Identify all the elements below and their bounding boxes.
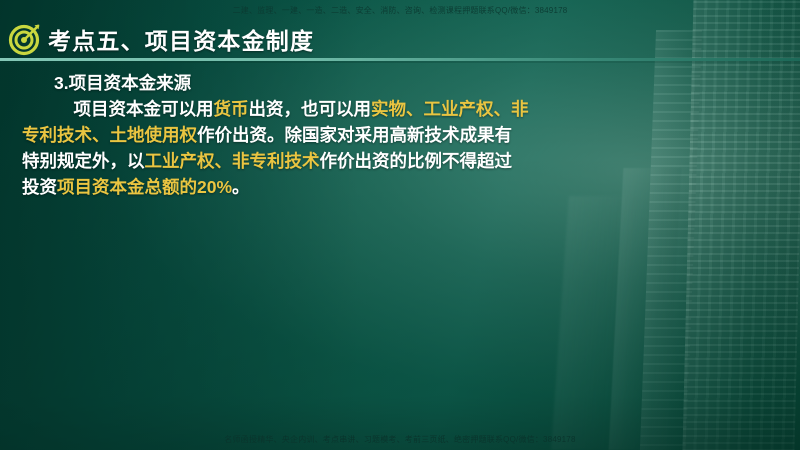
background-haze-left (0, 0, 360, 450)
watermark-top: 二建、监理、一建、一造、二造、安全、消防、咨询、检测课程押题联系QQ/微信：38… (0, 5, 800, 16)
page-title: 考点五、项目资本金制度 (48, 22, 314, 56)
highlighted-text: 货币 (214, 99, 249, 119)
content-line: 专利技术、土地使用权作价出资。除国家对采用高新技术成果有 (22, 122, 642, 148)
body-text: 作价出资的比例不得超过 (320, 151, 513, 171)
watermark-bottom: 名师函授精华、央企内训、考点串讲、习题模考、考前三页纸、绝密押题联系QQ/微信：… (0, 434, 800, 445)
body-text: 作价出资。除国家对采用高新技术成果有 (197, 125, 512, 145)
header-divider-shadow (0, 61, 800, 63)
content-heading: 3.项目资本金来源 (22, 70, 642, 96)
highlighted-text: 项目资本金总额的20% (57, 177, 232, 197)
content-line: 投资项目资本金总额的20%。 (22, 174, 642, 200)
body-text: 投资 (22, 177, 57, 197)
content-paragraph: 项目资本金可以用货币出资，也可以用实物、工业产权、非专利技术、土地使用权作价出资… (22, 96, 642, 200)
slide-canvas: 二建、监理、一建、一造、二造、安全、消防、咨询、检测课程押题联系QQ/微信：38… (0, 0, 800, 450)
body-text: 出资，也可以用 (249, 99, 372, 119)
highlighted-text: 工业产权、非专利技术 (145, 151, 320, 171)
target-dart-icon (8, 22, 42, 56)
content-line: 项目资本金可以用货币出资，也可以用实物、工业产权、非 (22, 96, 642, 122)
slide-body: 3.项目资本金来源 项目资本金可以用货币出资，也可以用实物、工业产权、非专利技术… (22, 70, 642, 200)
body-text: 特别规定外，以 (22, 151, 145, 171)
highlighted-text: 专利技术、土地使用权 (22, 125, 197, 145)
body-text: 。 (232, 177, 250, 197)
content-line: 特别规定外，以工业产权、非专利技术作价出资的比例不得超过 (22, 148, 642, 174)
highlighted-text: 实物、工业产权、非 (371, 99, 529, 119)
slide-header: 考点五、项目资本金制度 (0, 20, 800, 58)
body-text: 项目资本金可以用 (56, 99, 214, 119)
